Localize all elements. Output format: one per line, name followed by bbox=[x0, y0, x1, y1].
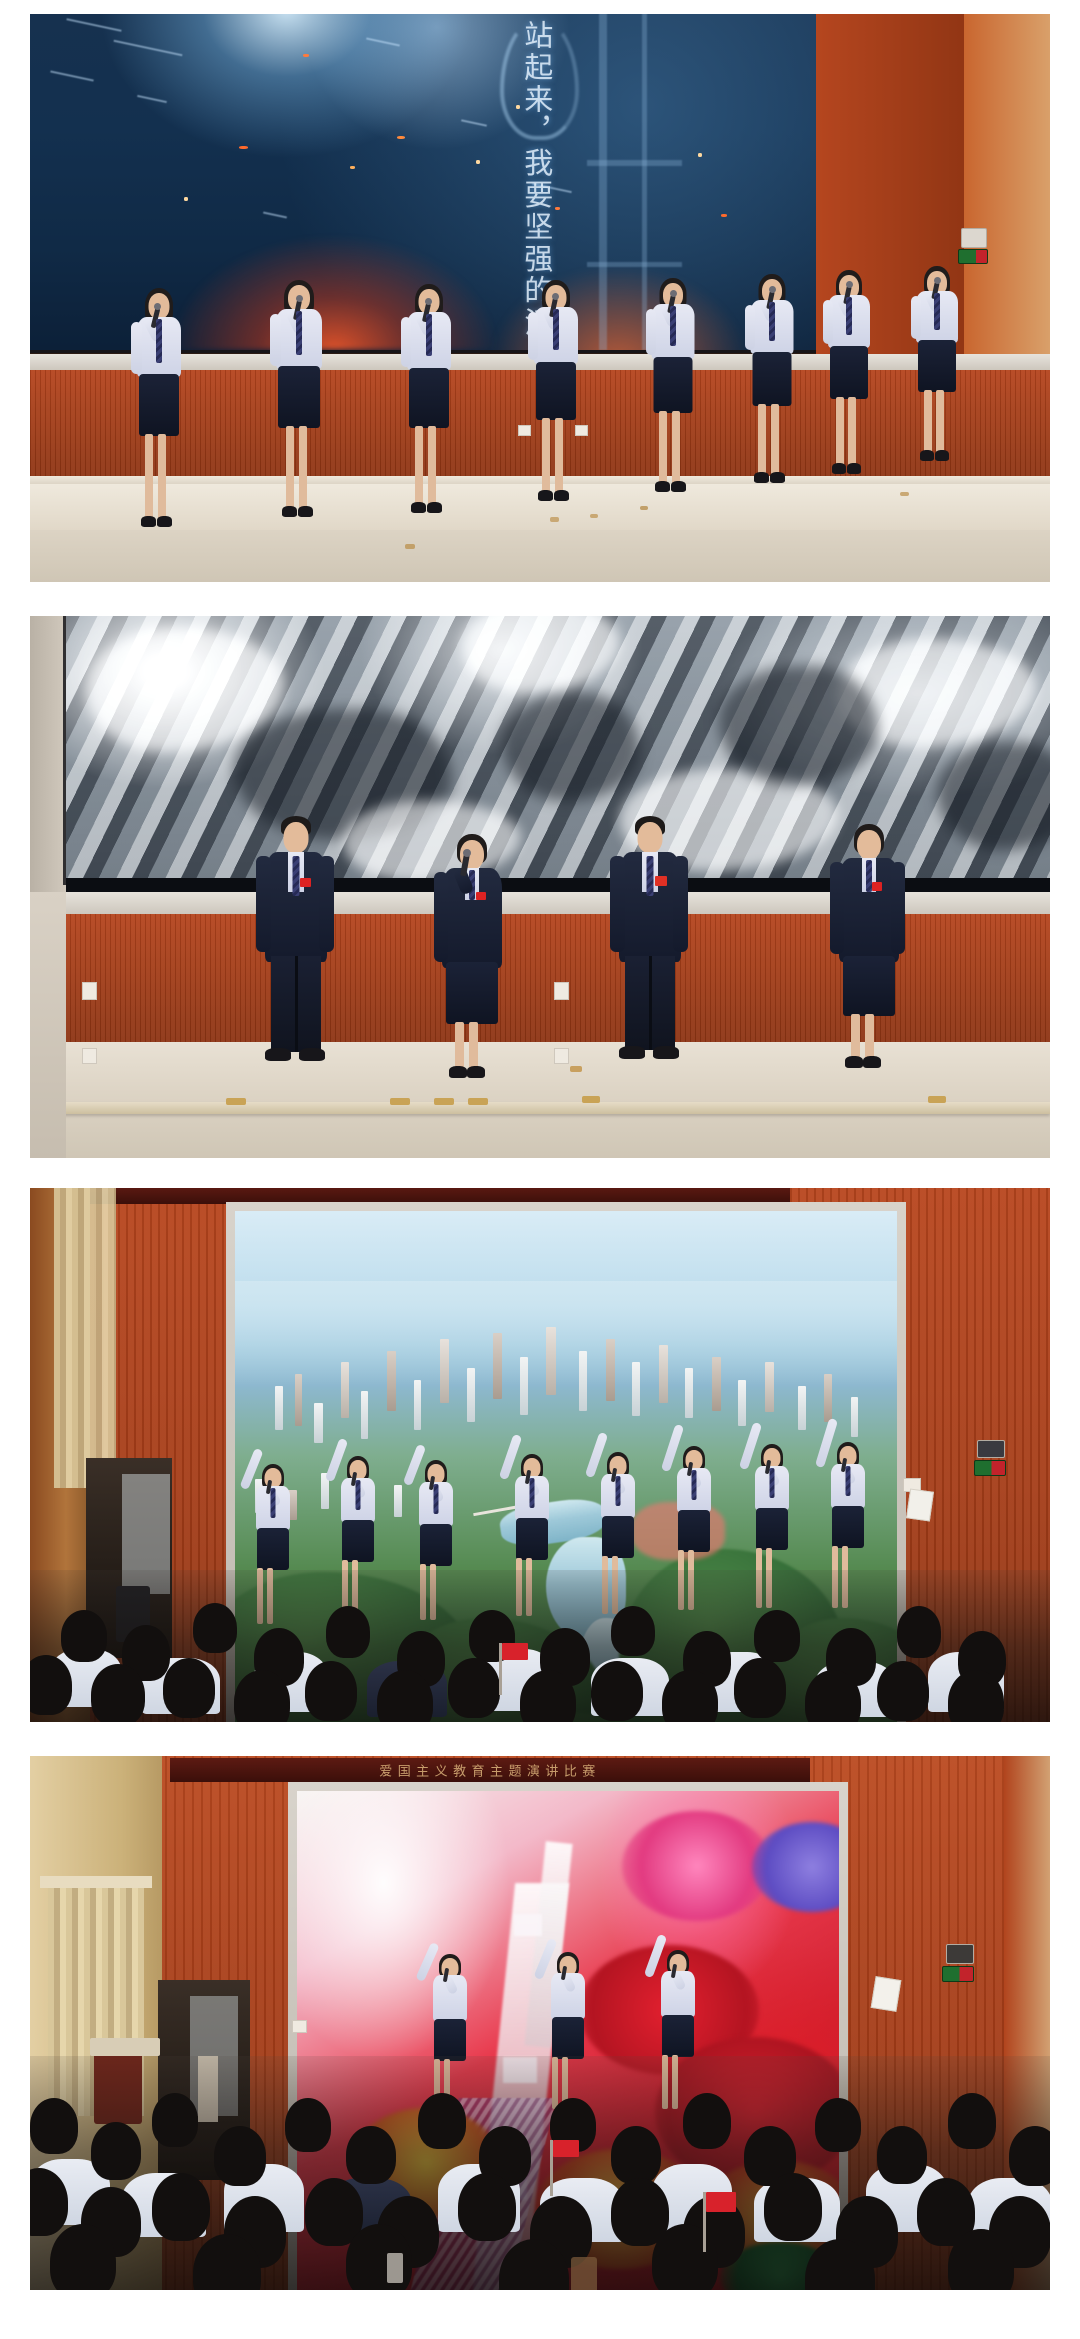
audience-3 bbox=[30, 1570, 1050, 1722]
photo-4[interactable]: 爱国主义教育主题演讲比赛 bbox=[30, 1756, 1050, 2290]
performer-1-7 bbox=[820, 270, 878, 506]
wall-socket-4 bbox=[292, 2020, 307, 2033]
photo-2[interactable] bbox=[30, 616, 1050, 1158]
performer-1-5 bbox=[643, 278, 703, 524]
performer-2-4 bbox=[830, 824, 908, 1076]
wall-socket-2a bbox=[82, 982, 97, 1000]
lapel-badge-2-2 bbox=[476, 892, 486, 900]
china-flag-4b bbox=[706, 2192, 736, 2212]
lapel-badge-2-4 bbox=[872, 882, 882, 891]
photo-3[interactable] bbox=[30, 1188, 1050, 1722]
exit-sign-4 bbox=[942, 1966, 974, 1982]
performer-2-3 bbox=[610, 816, 690, 1074]
wall-control-panel-4 bbox=[946, 1944, 974, 1964]
performer-2-1 bbox=[256, 816, 336, 1076]
exit-sign-3 bbox=[974, 1460, 1006, 1476]
audience-4 bbox=[30, 2056, 1050, 2290]
wall-control-panel-3 bbox=[977, 1440, 1005, 1458]
china-flag-3 bbox=[502, 1643, 528, 1660]
photo-1[interactable]: 站起来，我要坚强的活 bbox=[30, 14, 1050, 582]
wall-socket-2c bbox=[82, 1048, 97, 1064]
lapel-badge-2-1 bbox=[300, 878, 311, 887]
hall-banner-4-text: 爱国主义教育主题演讲比赛 bbox=[379, 1761, 601, 1780]
wall-control-panel-1 bbox=[961, 228, 987, 248]
wall-socket-2d bbox=[554, 1048, 569, 1064]
performer-2-2 bbox=[434, 834, 510, 1084]
performer-1-3 bbox=[398, 284, 460, 544]
lapel-badge-2-3 bbox=[655, 876, 667, 886]
performer-1-2 bbox=[268, 280, 330, 550]
wall-socket-2b bbox=[554, 982, 569, 1000]
performer-1-6 bbox=[742, 274, 802, 514]
side-curtain-3 bbox=[54, 1188, 116, 1488]
lectern-4 bbox=[90, 2038, 160, 2056]
performer-1-4 bbox=[525, 280, 587, 532]
photo-3-scene bbox=[30, 1188, 1050, 1722]
photo-4-scene: 爱国主义教育主题演讲比赛 bbox=[30, 1756, 1050, 2290]
exit-sign-1 bbox=[958, 249, 988, 264]
performer-1-1 bbox=[128, 288, 190, 558]
photo-stack-page: 站起来，我要坚强的活 bbox=[0, 0, 1080, 2339]
photo-1-scene: 站起来，我要坚强的活 bbox=[30, 14, 1050, 582]
china-flag-4a bbox=[553, 2140, 579, 2157]
hall-banner-4[interactable]: 爱国主义教育主题演讲比赛 bbox=[170, 1758, 810, 1782]
performer-1-8 bbox=[908, 266, 966, 496]
photo-2-scene bbox=[30, 616, 1050, 1158]
